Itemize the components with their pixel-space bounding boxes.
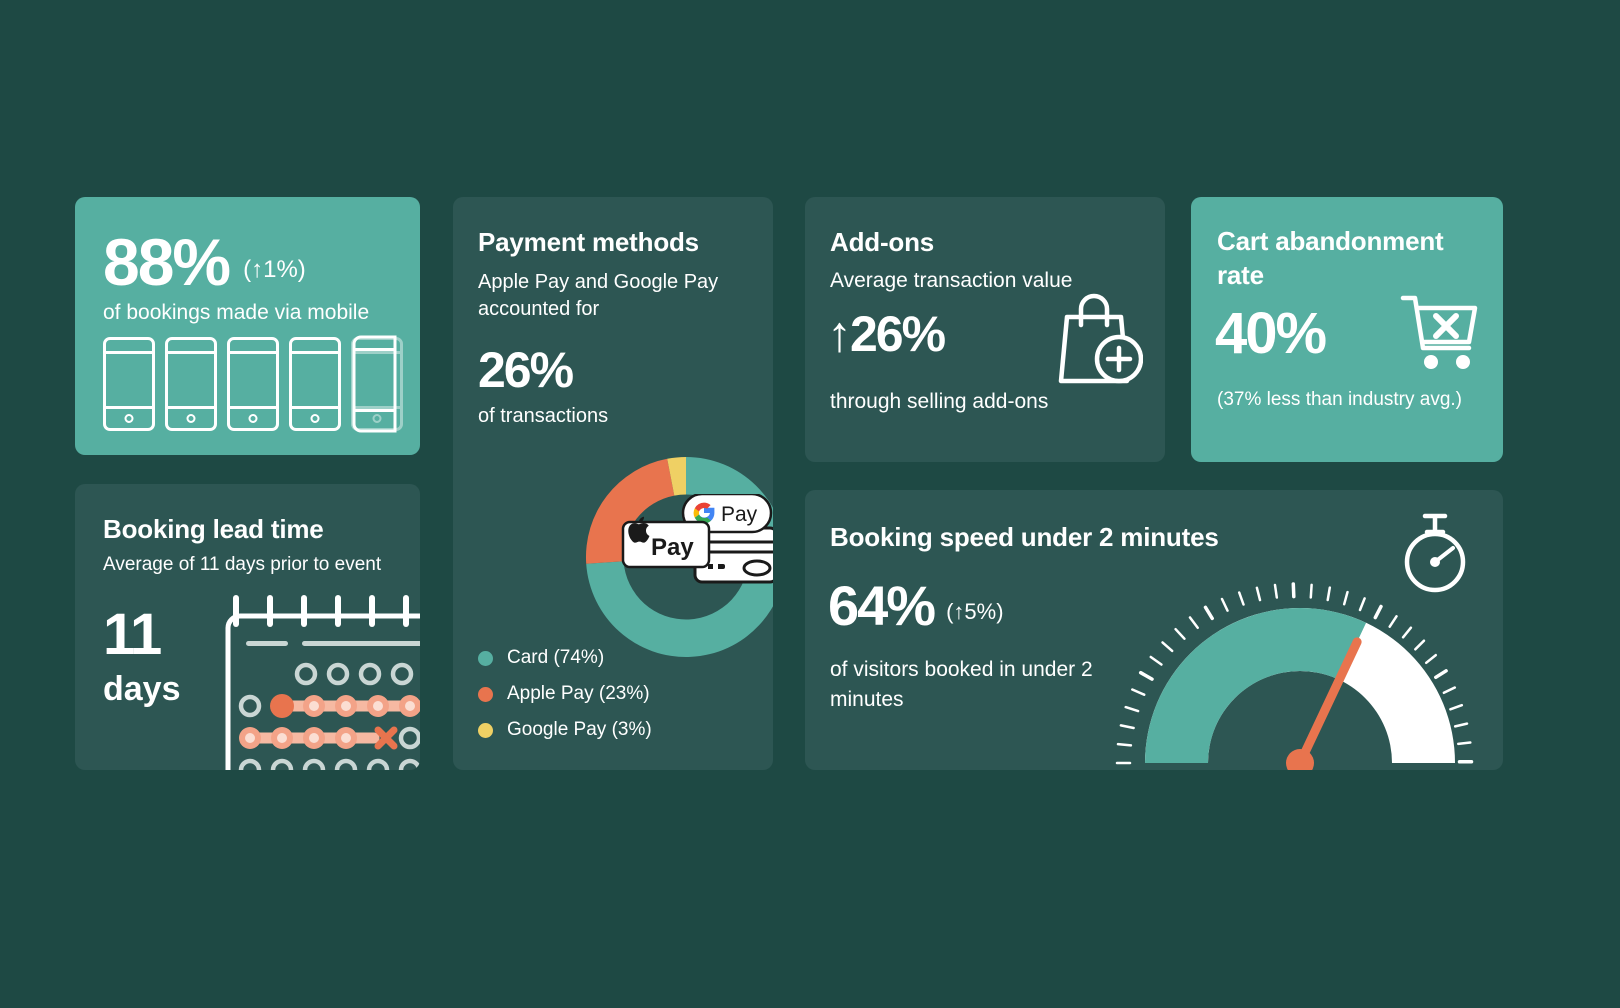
mobile-stat-row: 88% (↑1%) (103, 229, 306, 295)
phone-icon-partial (351, 337, 403, 431)
addons-value: ↑26% (827, 309, 944, 359)
speed-stat-row: 64% (↑5%) (828, 578, 1004, 634)
phone-home-button-icon (373, 414, 382, 423)
addons-caption: through selling add-ons (830, 390, 1048, 414)
cart-value: 40% (1215, 305, 1325, 363)
phone-home-button-icon (249, 414, 258, 423)
infographic-board: 88% (↑1%) of bookings made via mobile Bo… (0, 0, 1620, 1008)
payment-badges-cluster: Pay Pay (621, 494, 773, 604)
speed-delta: (↑5%) (946, 599, 1003, 625)
card-addons: Add-ons Average transaction value ↑26% t… (805, 197, 1165, 462)
card-mobile-bookings: 88% (↑1%) of bookings made via mobile (75, 197, 420, 455)
apple-pay-badge: Pay (623, 517, 709, 567)
mobile-percent-value: 88% (103, 229, 229, 295)
phone-pictogram-group (103, 337, 403, 431)
cart-x-icon (1399, 292, 1481, 376)
legend-item-google-pay: Google Pay (3%) (478, 719, 652, 741)
mobile-delta: (↑1%) (243, 256, 306, 284)
legend-item-card: Card (74%) (478, 647, 652, 669)
phone-home-button-icon (187, 414, 196, 423)
cart-title: Cart abandonment rate (1217, 225, 1472, 293)
legend-label-google-pay: Google Pay (3%) (507, 719, 652, 741)
lead-time-value: 11 (103, 606, 160, 664)
cart-note: (37% less than industry avg.) (1217, 389, 1462, 411)
lead-time-subtitle: Average of 11 days prior to event (103, 554, 381, 576)
speed-title: Booking speed under 2 minutes (830, 522, 1219, 553)
phone-icon (103, 337, 155, 431)
card-payment-methods: Payment methods Apple Pay and Google Pay… (453, 197, 773, 770)
mobile-caption: of bookings made via mobile (103, 301, 369, 325)
calendar-icon (210, 594, 420, 770)
addons-subtitle: Average transaction value (830, 269, 1072, 293)
phone-home-button-icon (311, 414, 320, 423)
card-booking-speed: Booking speed under 2 minutes 64% (↑5%) … (805, 490, 1503, 770)
lead-time-title: Booking lead time (103, 514, 324, 545)
legend-swatch-apple-pay (478, 687, 493, 702)
speed-value: 64% (828, 578, 934, 634)
phone-home-button-icon (125, 414, 134, 423)
speed-caption: of visitors booked in under 2 minutes (830, 655, 1100, 716)
card-cart-abandonment: Cart abandonment rate 40% (37% less than… (1191, 197, 1503, 462)
phone-icon (165, 337, 217, 431)
payment-legend: Card (74%) Apple Pay (23%) Google Pay (3… (478, 647, 652, 755)
payment-caption: of transactions (478, 405, 608, 428)
legend-label-apple-pay: Apple Pay (23%) (507, 683, 650, 705)
svg-text:Pay: Pay (651, 534, 694, 561)
addons-title: Add-ons (830, 227, 934, 258)
payment-percent-value: 26% (478, 345, 572, 395)
legend-swatch-google-pay (478, 723, 493, 738)
legend-label-card: Card (74%) (507, 647, 604, 669)
legend-item-apple-pay: Apple Pay (23%) (478, 683, 652, 705)
x-marker-icon (378, 730, 394, 746)
payment-subtitle: Apple Pay and Google Pay accounted for (478, 269, 723, 323)
shopping-bag-plus-icon (1051, 289, 1143, 389)
phone-icon (227, 337, 279, 431)
phone-icon (289, 337, 341, 431)
booking-speed-gauge (1105, 568, 1495, 770)
payment-title: Payment methods (478, 227, 699, 258)
card-booking-lead-time: Booking lead time Average of 11 days pri… (75, 484, 420, 770)
legend-swatch-card (478, 651, 493, 666)
svg-text:Pay: Pay (721, 503, 758, 526)
lead-time-unit: days (103, 670, 181, 709)
